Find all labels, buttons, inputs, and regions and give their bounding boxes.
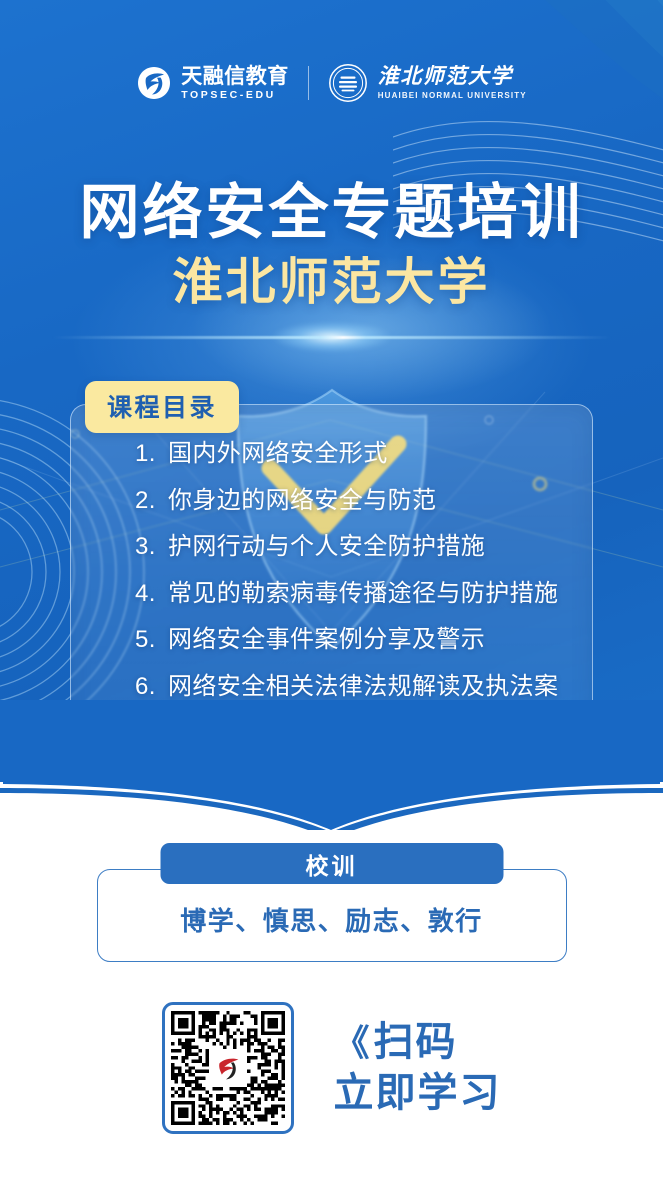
list-item: 1. 国内外网络安全形式 <box>0 442 663 466</box>
poster-root: 天融信教育 TOPSEC-EDU 淮北师范大学 HUAIBEI NORMAL U… <box>0 0 663 1179</box>
cta-line-1: 《 扫码 <box>334 1021 502 1064</box>
list-item-label: 网络安全事件案例分享及警示 <box>168 628 485 652</box>
university-seal-icon <box>328 63 368 103</box>
brand-name-cn: 天融信教育 <box>181 66 289 87</box>
list-item-number: 6. <box>135 675 162 699</box>
logo-bar: 天融信教育 TOPSEC-EDU 淮北师范大学 HUAIBEI NORMAL U… <box>0 57 663 109</box>
brand-topsec-text: 天融信教育 TOPSEC-EDU <box>181 66 289 101</box>
title-block: 网络安全专题培训 淮北师范大学 <box>0 178 663 312</box>
logo-separator <box>308 66 309 100</box>
list-item-number: 2. <box>135 489 162 513</box>
topsec-swirl-icon <box>136 65 172 101</box>
chevron-left-icon: 《 <box>334 1025 365 1061</box>
list-item: 2. 你身边的网络安全与防范 <box>0 489 663 513</box>
list-item-label: 护网行动与个人安全防护措施 <box>168 535 485 559</box>
qr-section: 《 扫码 立即学习 <box>0 1002 663 1134</box>
list-item-label: 常见的勒索病毒传播途径与防护措施 <box>168 582 558 606</box>
university-name-en: HUAIBEI NORMAL UNIVERSITY <box>378 92 527 100</box>
list-item-number: 4. <box>135 582 162 606</box>
list-item: 5. 网络安全事件案例分享及警示 <box>0 628 663 652</box>
cta-label-scan: 扫码 <box>374 1021 458 1064</box>
list-item: 4. 常见的勒索病毒传播途径与防护措施 <box>0 582 663 606</box>
motto-text: 博学、慎思、励志、敦行 <box>0 901 663 938</box>
topsec-swirl-red-icon <box>209 1049 247 1087</box>
page-subtitle: 淮北师范大学 <box>0 252 663 312</box>
list-item-label: 网络安全相关法律法规解读及执法案 <box>168 675 558 699</box>
brand-name-en: TOPSEC-EDU <box>181 90 289 101</box>
cta-label-learn: 立即学习 <box>334 1072 502 1115</box>
list-item-label: 你身边的网络安全与防范 <box>168 489 436 513</box>
course-list: 1. 国内外网络安全形式 2. 你身边的网络安全与防范 3. 护网行动与个人安全… <box>0 442 663 721</box>
page-title: 网络安全专题培训 <box>0 178 663 248</box>
motto-heading: 校训 <box>160 843 503 884</box>
brand-topsec: 天融信教育 TOPSEC-EDU <box>136 65 289 101</box>
cta-block: 《 扫码 立即学习 <box>334 1021 502 1114</box>
list-item: 6. 网络安全相关法律法规解读及执法案 <box>0 675 663 699</box>
list-item-number: 3. <box>135 535 162 559</box>
brand-university-text: 淮北师范大学 HUAIBEI NORMAL UNIVERSITY <box>378 66 527 100</box>
list-item-label: 国内外网络安全形式 <box>168 442 388 466</box>
list-item-number: 5. <box>135 628 162 652</box>
list-item-number: 1. <box>135 442 162 466</box>
list-item: 3. 护网行动与个人安全防护措施 <box>0 535 663 559</box>
light-streak <box>52 336 612 339</box>
catalog-badge: 课程目录 <box>85 381 239 433</box>
brand-university: 淮北师范大学 HUAIBEI NORMAL UNIVERSITY <box>328 63 527 103</box>
light-streak-glow <box>272 322 392 352</box>
qr-code-icon[interactable] <box>162 1002 294 1134</box>
university-name-cn: 淮北师范大学 <box>378 66 527 87</box>
